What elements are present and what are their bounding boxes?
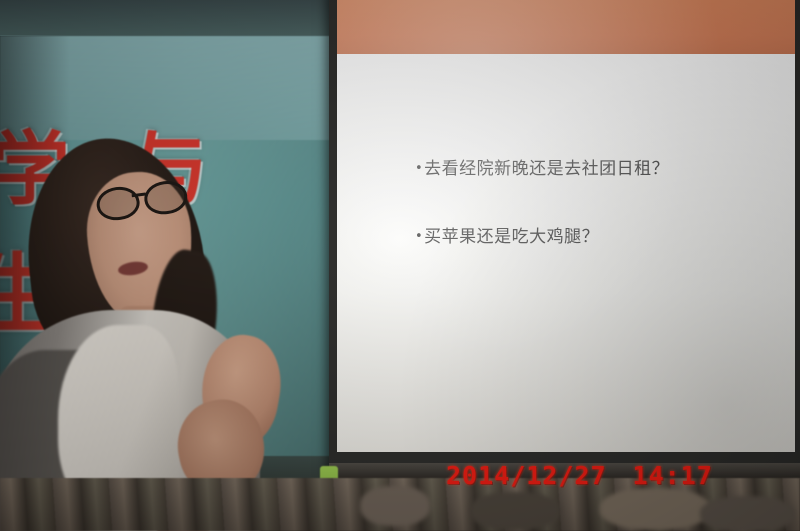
projection-screen: •去看经院新晚还是去社团日租？ •买苹果还是吃大鸡腿？ xyxy=(337,0,795,452)
projection-board-frame: •去看经院新晚还是去社团日租？ •买苹果还是吃大鸡腿？ xyxy=(329,0,800,477)
timestamp-time: 14:17 xyxy=(633,461,713,490)
bullet-marker-icon: • xyxy=(415,161,423,176)
slide-header-band xyxy=(337,0,795,54)
presenter-figure xyxy=(0,120,330,531)
foreground-blob-4 xyxy=(700,496,795,531)
bullet-marker-icon: • xyxy=(415,229,423,244)
camera-timestamp: 2014/12/2714:17 xyxy=(446,461,713,490)
timestamp-date: 2014/12/27 xyxy=(446,461,607,490)
slide-body: •去看经院新晚还是去社团日租？ •买苹果还是吃大鸡腿？ xyxy=(337,54,795,452)
foreground-blob-3 xyxy=(600,488,710,530)
slide-bullet-1-text: 去看经院新晚还是去社团日租？ xyxy=(424,159,669,179)
slide-bullet-2-text: 买苹果还是吃大鸡腿？ xyxy=(424,227,599,247)
foreground-blob-2 xyxy=(470,492,560,530)
slide-bullet-1: •去看经院新晚还是去社团日租？ xyxy=(415,154,669,179)
photo-scene: 学 与 生 活 •去看经院新晚还是去社团日租？ •买苹果还是吃大鸡腿？ xyxy=(0,0,800,531)
slide-bullet-2: •买苹果还是吃大鸡腿？ xyxy=(415,222,599,247)
foreground-blob-1 xyxy=(360,486,430,526)
